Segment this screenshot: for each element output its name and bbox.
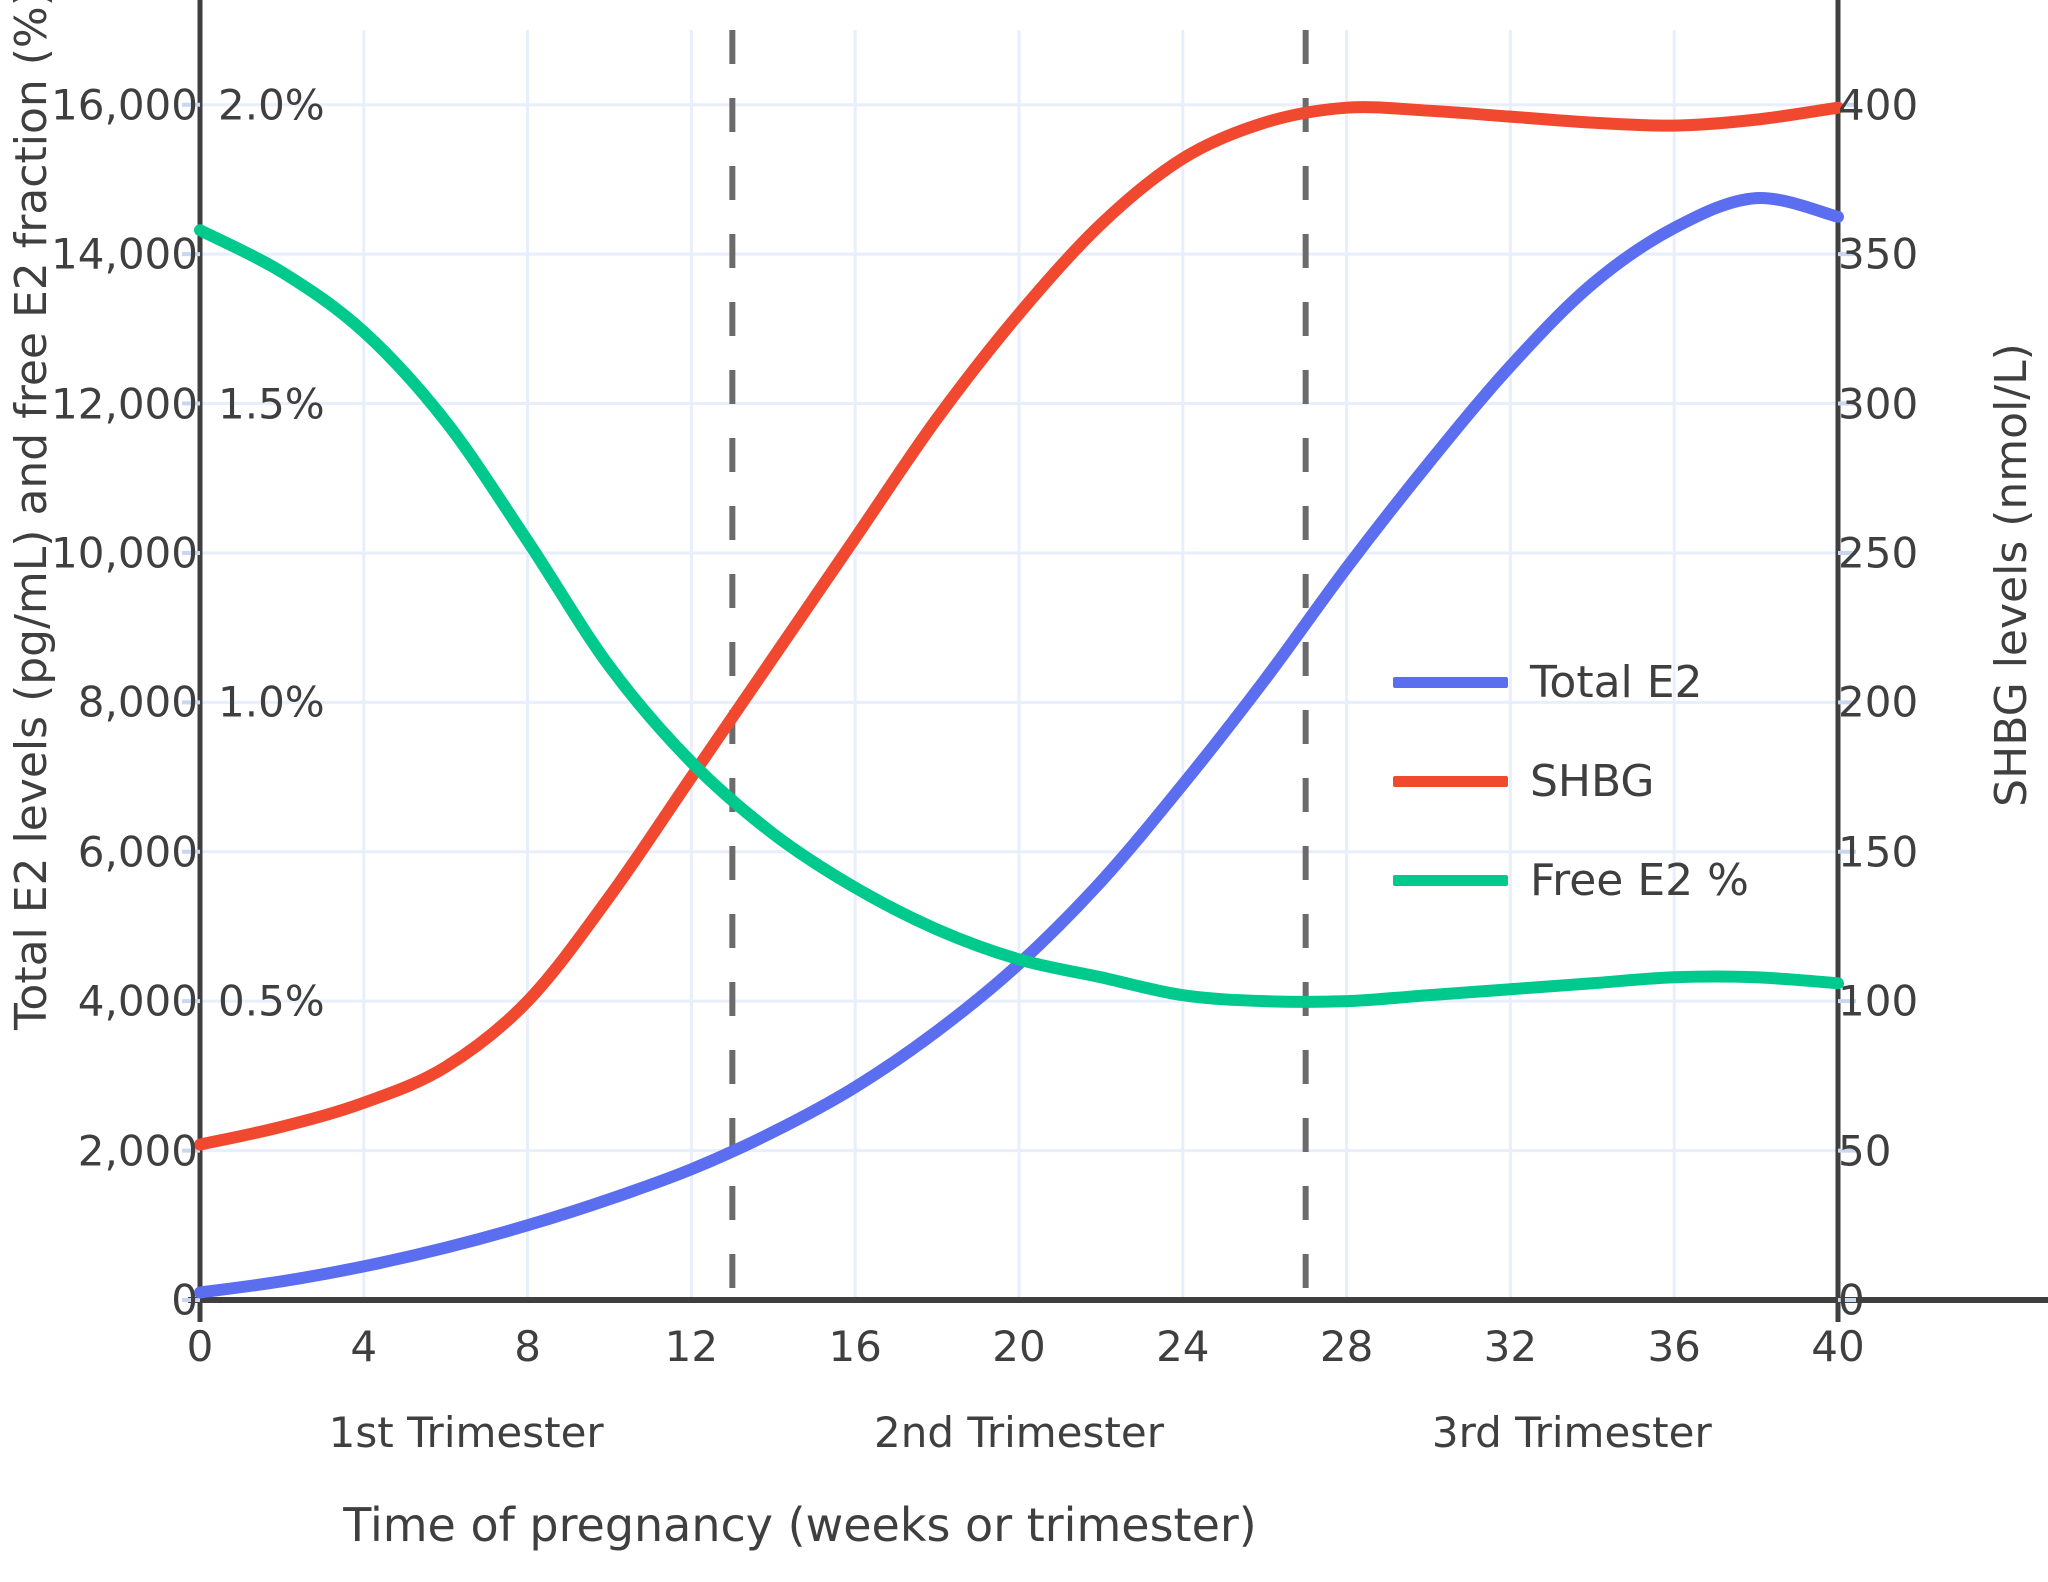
x-tick-label: 8 [448,1322,608,1371]
x-tick-label: 24 [1103,1322,1263,1371]
legend-swatch-icon [1393,677,1508,688]
x-tick-label: 16 [775,1322,935,1371]
y-right-tick-label: 100 [1838,977,2038,1026]
y-left-tick-label: 0 [0,1276,198,1325]
x-tick-label: 4 [284,1322,444,1371]
x-tick-label: 12 [611,1322,771,1371]
y-right-tick-label: 250 [1838,528,2038,577]
legend-swatch-icon [1393,875,1508,886]
y-right-tick-label: 400 [1838,80,2038,129]
x-axis-title: Time of pregnancy (weeks or trimester) [200,1498,1400,1552]
free-e2-percent-label: 0.5% [218,977,325,1026]
y-left-tick-label: 2,000 [0,1126,198,1175]
y-right-tick-label: 0 [1838,1276,2038,1325]
free-e2-percent-label: 2.0% [218,80,325,129]
trimester-label-3: 3rd Trimester [1372,1408,1772,1457]
y-axis-left-title: Total E2 levels (pg/mL) and free E2 frac… [0,20,64,1030]
y-right-tick-label: 200 [1838,678,2038,727]
free-e2-percent-label: 1.5% [218,379,325,428]
legend-item-free-e2[interactable]: Free E2 % [1393,855,1749,906]
y-left-tick-label: 12,000 [0,379,198,428]
legend-label: Free E2 % [1530,855,1749,906]
legend-label: Total E2 [1530,657,1703,708]
y-left-tick-label: 4,000 [0,977,198,1026]
legend-swatch-icon [1393,776,1508,787]
y-right-tick-label: 50 [1838,1126,2038,1175]
legend-item-total-e2[interactable]: Total E2 [1393,657,1749,708]
y-right-tick-label: 350 [1838,230,2038,279]
chart-legend: Total E2SHBGFree E2 % [1393,657,1749,906]
y-left-tick-label: 14,000 [0,230,198,279]
x-tick-label: 32 [1430,1322,1590,1371]
y-left-tick-label: 10,000 [0,528,198,577]
y-left-tick-label: 6,000 [0,827,198,876]
y-left-tick-label: 16,000 [0,80,198,129]
y-left-tick-label: 8,000 [0,678,198,727]
x-tick-label: 20 [939,1322,1099,1371]
chart-figure: Total E2 levels (pg/mL) and free E2 frac… [0,0,2048,1582]
legend-item-shbg[interactable]: SHBG [1393,756,1749,807]
x-tick-label: 28 [1267,1322,1427,1371]
trimester-label-1: 1st Trimester [266,1408,666,1457]
x-tick-label: 40 [1758,1322,1918,1371]
trimester-label-2: 2nd Trimester [819,1408,1219,1457]
x-tick-label: 36 [1594,1322,1754,1371]
y-right-tick-label: 300 [1838,379,2038,428]
x-tick-label: 0 [120,1322,280,1371]
legend-label: SHBG [1530,756,1655,807]
free-e2-percent-label: 1.0% [218,678,325,727]
y-right-tick-label: 150 [1838,827,2038,876]
